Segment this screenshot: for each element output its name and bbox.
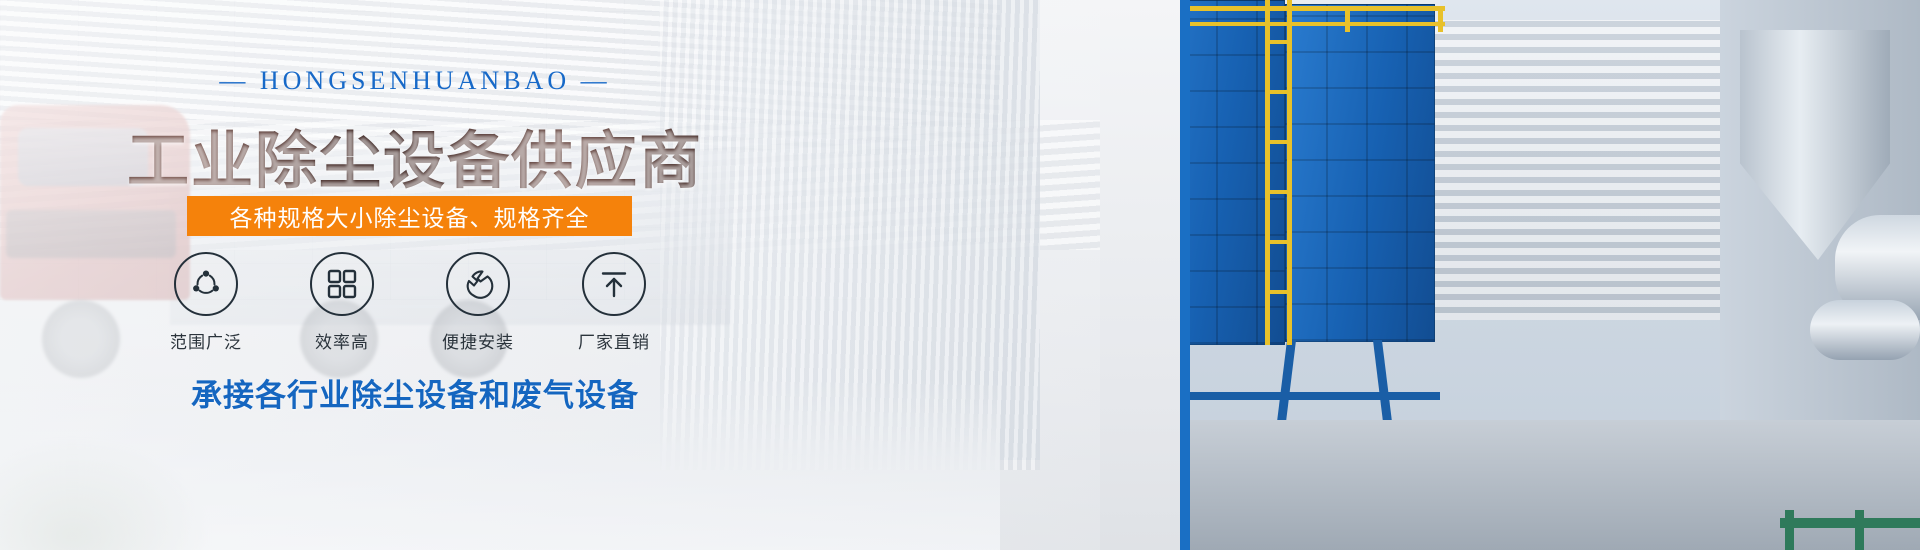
brand-pinyin-eyebrow: — HONGSENHUANBAO —	[0, 66, 830, 96]
green-fence-post-1	[1785, 510, 1794, 550]
feature-item-range[interactable]: 范围广泛	[150, 252, 262, 353]
feature-label-4: 厂家直销	[558, 328, 670, 353]
feature-item-factory-direct[interactable]: 厂家直销	[558, 252, 670, 353]
share-nodes-icon	[189, 267, 223, 301]
feature-icon-circle-2	[310, 252, 374, 316]
feature-icon-circle-3	[446, 252, 510, 316]
subtitle-orange-bar: 各种规格大小除尘设备、规格齐全	[187, 196, 632, 236]
feature-label-3: 便捷安装	[422, 328, 534, 353]
green-fence-post-2	[1855, 510, 1864, 550]
subtitle-text: 各种规格大小除尘设备、规格齐全	[230, 199, 590, 233]
steel-duct-right-lower	[1810, 300, 1920, 360]
grid-four-squares-icon	[326, 268, 358, 300]
hero-content: — HONGSENHUANBAO — 工业除尘设备供应商 各种规格大小除尘设备、…	[0, 0, 830, 550]
page-title: 工业除尘设备供应商	[0, 110, 830, 200]
green-fence-rail	[1780, 518, 1920, 528]
feature-item-installation[interactable]: 便捷安装	[422, 252, 534, 353]
hero-tagline: 承接各行业除尘设备和废气设备	[0, 370, 830, 415]
feature-icon-circle-4	[582, 252, 646, 316]
feature-label-2: 效率高	[286, 328, 398, 353]
feature-icon-circle-1	[174, 252, 238, 316]
feature-label-1: 范围广泛	[150, 328, 262, 353]
concrete-ground-far	[1170, 420, 1920, 550]
baghouse-module-3	[1285, 4, 1435, 342]
wrench-icon	[461, 267, 495, 301]
feature-list: 范围广泛 效率高	[150, 252, 670, 353]
arrow-up-bar-icon	[598, 268, 630, 300]
building-b-cladding	[1430, 20, 1730, 320]
hero-banner: — HONGSENHUANBAO — 工业除尘设备供应商 各种规格大小除尘设备、…	[0, 0, 1920, 550]
feature-item-efficiency[interactable]: 效率高	[286, 252, 398, 353]
